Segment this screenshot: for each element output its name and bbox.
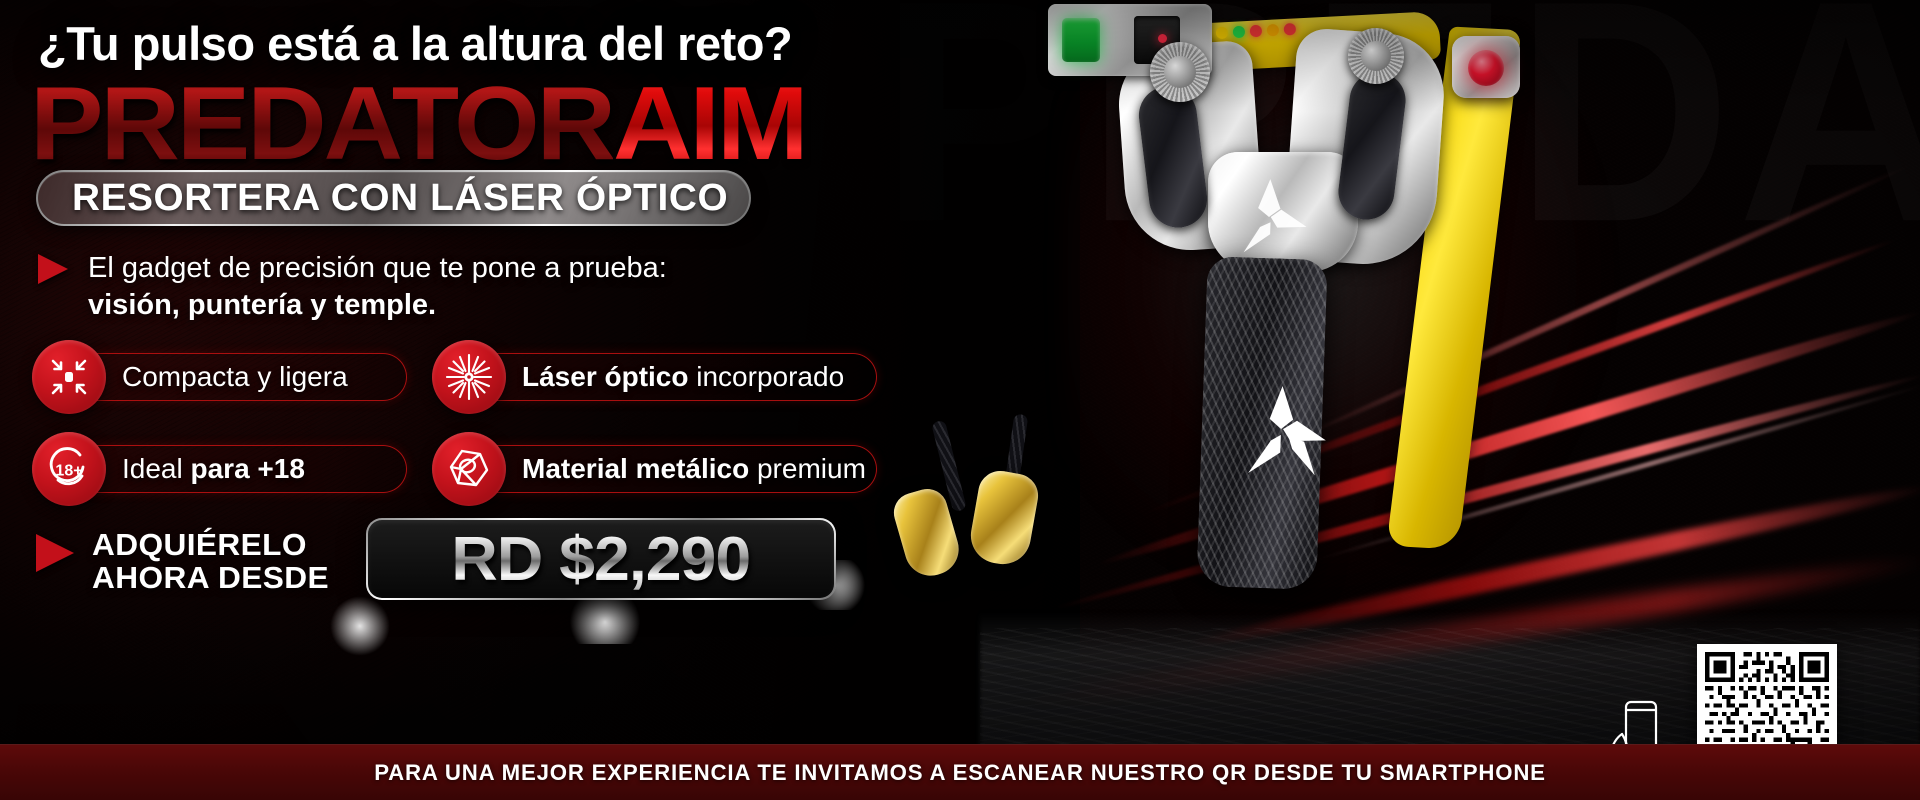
feature-label-laser: Láser óptico incorporado bbox=[522, 361, 844, 393]
feature-badge-material[interactable]: Material metálico premium bbox=[432, 432, 902, 506]
feature-text-bold: Material metálico bbox=[522, 453, 749, 484]
feature-row: 18+ Ideal para +18 bbox=[32, 432, 902, 506]
feature-text-plain: Ideal bbox=[122, 453, 191, 484]
feature-badge-compacta[interactable]: Compacta y ligera bbox=[32, 340, 432, 414]
feature-badge-edad[interactable]: 18+ Ideal para +18 bbox=[32, 432, 432, 506]
tagline-line-2: visión, puntería y temple. bbox=[88, 287, 667, 324]
footer-bar: PARA UNA MEJOR EXPERIENCIA TE INVITAMOS … bbox=[0, 744, 1920, 800]
footer-message: PARA UNA MEJOR EXPERIENCIA TE INVITAMOS … bbox=[374, 760, 1546, 786]
feature-text-tail: premium bbox=[749, 453, 866, 484]
price-box[interactable]: RD $2,290 bbox=[366, 518, 836, 600]
red-arrow-icon bbox=[38, 254, 68, 284]
price-cta-line-1: ADQUIÉRELO bbox=[92, 527, 307, 562]
laser-burst-icon bbox=[432, 340, 506, 414]
tagline-block: El gadget de precisión que te pone a pru… bbox=[88, 250, 667, 324]
feature-label-material: Material metálico premium bbox=[522, 453, 866, 485]
hex-nut-icon bbox=[432, 432, 506, 506]
feature-text-plain: Compacta y ligera bbox=[122, 361, 348, 392]
price-cta-line-2: AHORA DESDE bbox=[92, 560, 329, 595]
brand-wordmark: PREDATORAIM bbox=[30, 72, 806, 176]
wordmark-predator: PREDATOR bbox=[30, 72, 613, 176]
feature-text-bold: Láser óptico bbox=[522, 361, 688, 392]
wordmark-aim: AIM bbox=[613, 72, 806, 176]
svg-text:18+: 18+ bbox=[55, 463, 82, 480]
price-amount: RD $2,290 bbox=[452, 524, 751, 595]
feature-label-edad: Ideal para +18 bbox=[122, 453, 305, 485]
tagline-line-1: El gadget de precisión que te pone a pru… bbox=[88, 252, 667, 284]
feature-label-compacta: Compacta y ligera bbox=[122, 361, 348, 393]
price-cta-text: ADQUIÉRELO AHORA DESDE bbox=[92, 528, 329, 595]
promo-banner: PREDATOR bbox=[0, 0, 1920, 800]
feature-text-tail: incorporado bbox=[688, 361, 844, 392]
compress-icon bbox=[32, 340, 106, 414]
kicker-headline: ¿Tu pulso está a la altura del reto? bbox=[38, 16, 792, 71]
red-arrow-icon bbox=[36, 534, 74, 572]
feature-text-bold: para +18 bbox=[191, 453, 305, 484]
age-18-plus-icon: 18+ bbox=[32, 432, 106, 506]
feature-badge-grid: Compacta y ligera bbox=[32, 340, 902, 524]
feature-badge-laser[interactable]: Láser óptico incorporado bbox=[432, 340, 902, 414]
product-type-pill: RESORTERA CON LÁSER ÓPTICO bbox=[36, 170, 751, 226]
feature-row: Compacta y ligera bbox=[32, 340, 902, 414]
product-type-label: RESORTERA CON LÁSER ÓPTICO bbox=[72, 177, 728, 220]
